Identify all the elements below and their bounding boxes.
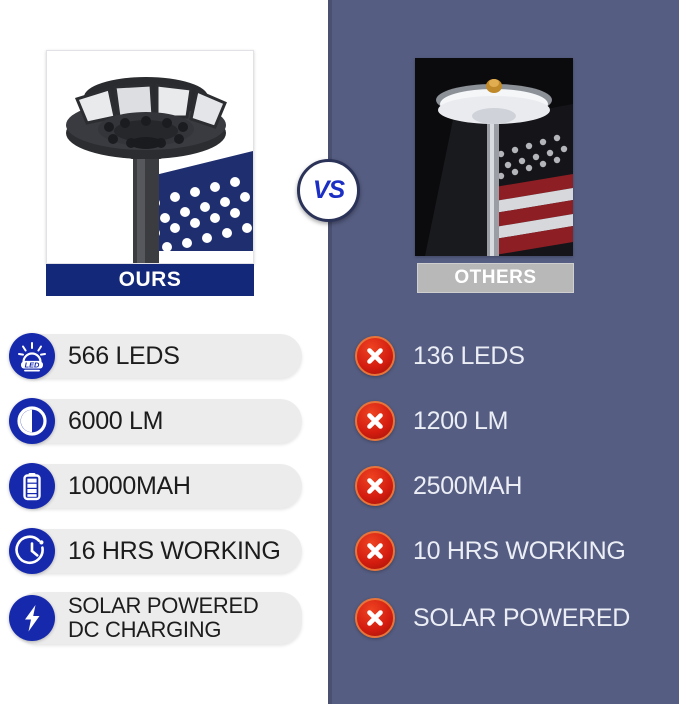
red-x-icon bbox=[355, 401, 395, 441]
others-lamp-illustration bbox=[415, 58, 573, 256]
others-feature-row-lumens: 1200 LM bbox=[355, 395, 679, 447]
ours-feature-row-lumens: 6000 LM bbox=[0, 395, 328, 447]
svg-text:LED: LED bbox=[25, 360, 40, 369]
red-x-icon bbox=[355, 336, 395, 376]
others-feature-row-leds: 136 LEDS bbox=[355, 330, 679, 382]
others-feature-row-capacity: 2500MAH bbox=[355, 460, 679, 512]
ours-label-text: OURS bbox=[119, 268, 182, 292]
ours-feature-text: 6000 LM bbox=[68, 408, 163, 435]
ours-product-photo bbox=[46, 50, 254, 264]
panel-divider bbox=[328, 0, 332, 704]
red-x-icon bbox=[355, 598, 395, 638]
others-label-text: OTHERS bbox=[454, 267, 536, 289]
comparison-infographic: OURS VS bbox=[0, 0, 679, 704]
lightning-bolt-icon bbox=[9, 595, 55, 641]
ours-feature-row-capacity: 10000MAH bbox=[0, 460, 328, 512]
others-feature-list: 136 LEDS 1200 LM 2500MAH bbox=[355, 330, 679, 659]
ours-feature-row-leds: LED 566 LEDS bbox=[0, 330, 328, 382]
others-feature-text: SOLAR POWERED bbox=[413, 604, 630, 633]
red-x-icon bbox=[355, 531, 395, 571]
ours-feature-text: SOLAR POWERED DC CHARGING bbox=[68, 594, 258, 642]
ours-lamp-illustration bbox=[47, 51, 253, 263]
others-label-bar: OTHERS bbox=[417, 263, 574, 293]
ours-feature-row-power: SOLAR POWERED DC CHARGING bbox=[0, 590, 328, 646]
others-feature-row-runtime: 10 HRS WORKING bbox=[355, 525, 679, 577]
clock-icon bbox=[9, 528, 55, 574]
led-bulb-icon: LED bbox=[9, 333, 55, 379]
others-feature-text: 10 HRS WORKING bbox=[413, 537, 626, 566]
others-feature-row-power: SOLAR POWERED bbox=[355, 590, 679, 646]
vs-label: VS bbox=[313, 176, 344, 205]
others-feature-text: 136 LEDS bbox=[413, 342, 525, 371]
ours-feature-row-runtime: 16 HRS WORKING bbox=[0, 525, 328, 577]
vs-badge: VS bbox=[297, 159, 360, 222]
red-x-icon bbox=[355, 466, 395, 506]
battery-icon bbox=[9, 463, 55, 509]
ours-feature-text: 16 HRS WORKING bbox=[68, 538, 281, 565]
others-feature-text: 1200 LM bbox=[413, 407, 508, 436]
ours-label-bar: OURS bbox=[46, 264, 254, 296]
others-feature-text: 2500MAH bbox=[413, 472, 522, 501]
ours-feature-text: 10000MAH bbox=[68, 473, 191, 500]
brightness-icon bbox=[9, 398, 55, 444]
others-product-photo bbox=[415, 58, 573, 256]
ours-feature-list: LED 566 LEDS 6000 LM bbox=[0, 330, 328, 659]
ours-feature-text: 566 LEDS bbox=[68, 343, 180, 370]
